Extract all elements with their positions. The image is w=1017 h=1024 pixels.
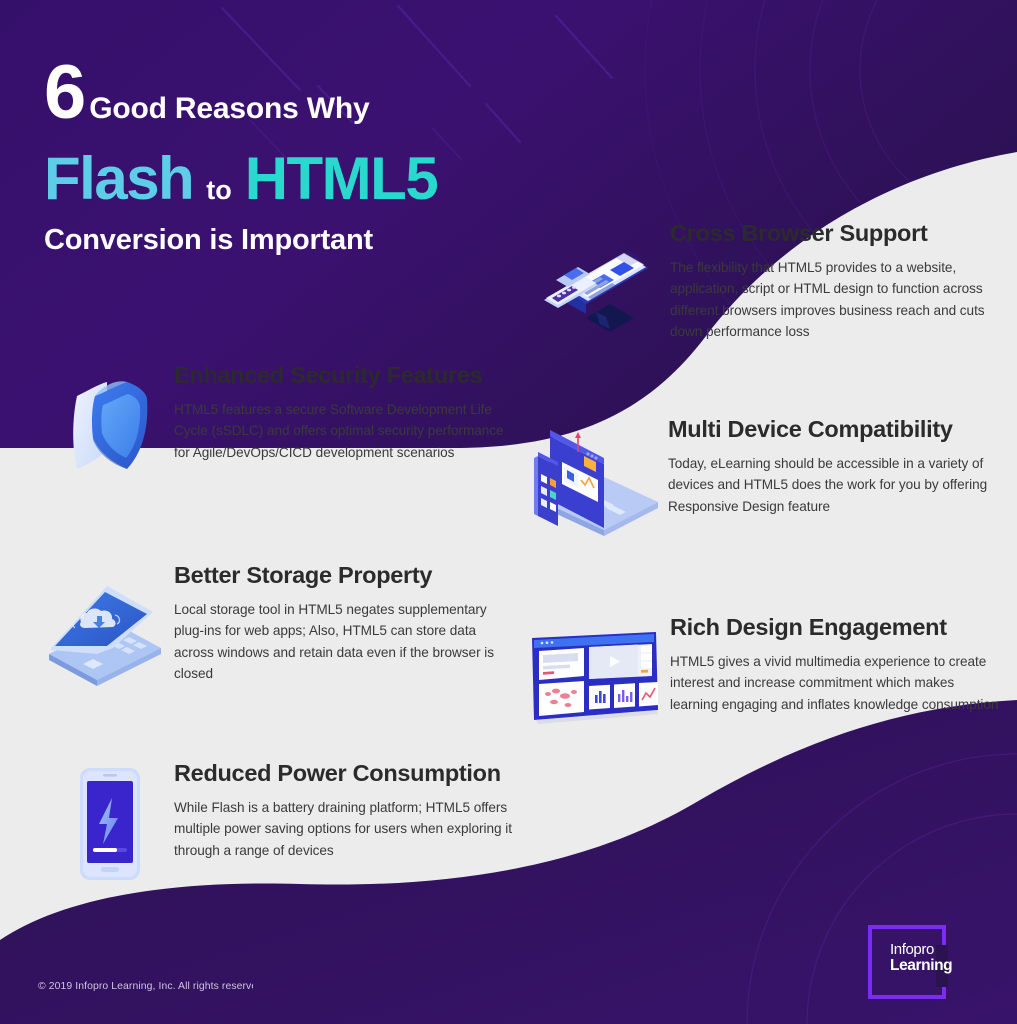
reason-title: Rich Design Engagement	[670, 612, 1002, 643]
headline-word-to: to	[206, 175, 231, 206]
isometric-shield-icon	[46, 360, 174, 482]
isometric-laptop-phone-icon	[520, 414, 668, 540]
reason-body: The flexibility that HTML5 provides to a…	[670, 257, 998, 343]
isometric-desktop-monitor-icon	[528, 218, 670, 348]
reason-body: HTML5 features a secure Software Develop…	[174, 399, 516, 463]
headline-row-1: 6 Good Reasons Why	[44, 62, 604, 126]
reason-body: HTML5 gives a vivid multimedia experienc…	[670, 651, 1002, 715]
reason-text-reduced-power-consumption: Reduced Power Consumption While Flash is…	[174, 758, 516, 861]
reason-card-reduced-power-consumption: Reduced Power Consumption While Flash is…	[46, 758, 516, 884]
reason-text-better-storage-property: Better Storage Property Local storage to…	[174, 560, 518, 685]
reason-text-multi-device-compatibility: Multi Device Compatibility Today, eLearn…	[668, 414, 1000, 517]
reason-card-multi-device-compatibility: Multi Device Compatibility Today, eLearn…	[520, 414, 1000, 540]
reason-card-cross-browser-support: Cross Browser Support The flexibility th…	[528, 218, 998, 348]
logo-wordmark: Infopro Learning	[890, 942, 952, 974]
reason-text-enhanced-security-features: Enhanced Security Features HTML5 feature…	[174, 360, 516, 463]
reason-card-enhanced-security-features: Enhanced Security Features HTML5 feature…	[46, 360, 516, 482]
reason-body: Local storage tool in HTML5 negates supp…	[174, 599, 518, 685]
reason-card-better-storage-property: Better Storage Property Local storage to…	[28, 560, 518, 688]
headline-kicker: Good Reasons Why	[89, 92, 369, 126]
reason-card-rich-design-engagement: Rich Design Engagement HTML5 gives a viv…	[520, 612, 1002, 728]
reason-title: Cross Browser Support	[670, 218, 998, 249]
reason-title: Better Storage Property	[174, 560, 518, 591]
headline-word-flash: Flash	[44, 144, 193, 213]
reason-body: While Flash is a battery draining platfo…	[174, 797, 516, 861]
reason-title: Multi Device Compatibility	[668, 414, 1000, 445]
reason-count-number: 6	[44, 62, 84, 124]
reason-text-rich-design-engagement: Rich Design Engagement HTML5 gives a viv…	[670, 612, 1002, 715]
logo-line-two: Learning	[890, 958, 952, 974]
reason-text-cross-browser-support: Cross Browser Support The flexibility th…	[670, 218, 998, 343]
reason-title: Reduced Power Consumption	[174, 758, 516, 789]
dashboard-media-screen-icon	[520, 612, 670, 728]
smartphone-charging-icon	[46, 758, 174, 884]
infopro-learning-logo: Infopro Learning	[868, 925, 946, 999]
header-title-block: 6 Good Reasons Why Flash to HTML5 Conver…	[44, 62, 604, 257]
headline-word-html5: HTML5	[245, 144, 437, 213]
headline-row-2: Flash to HTML5	[44, 144, 604, 213]
logo-line-one: Infopro	[890, 942, 952, 957]
headline-subtitle: Conversion is Important	[44, 224, 604, 257]
copyright-text: © 2019 Infopro Learning, Inc. All rights…	[38, 981, 253, 992]
isometric-laptop-cloud-icon	[28, 560, 174, 688]
reason-body: Today, eLearning should be accessible in…	[668, 453, 1000, 517]
reason-title: Enhanced Security Features	[174, 360, 516, 391]
